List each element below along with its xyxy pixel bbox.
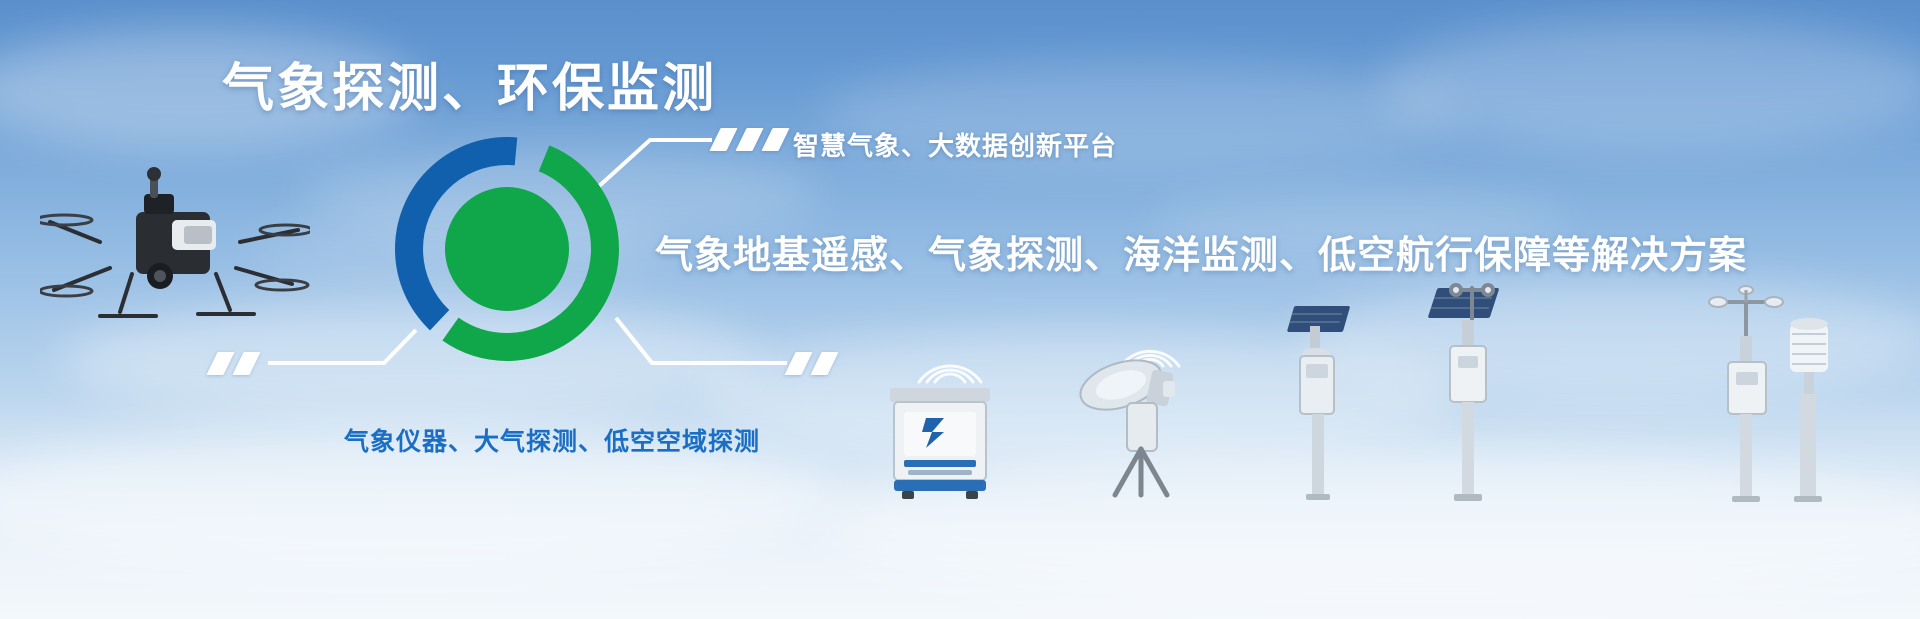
callout-bottom-text: 气象仪器、大气探测、低空空域探测 bbox=[344, 422, 760, 458]
slash-mark-left bbox=[212, 352, 255, 375]
drone-icon bbox=[40, 150, 310, 340]
donut-chart-graphic bbox=[390, 132, 624, 366]
solar-sensor-mast-icon bbox=[1410, 280, 1540, 502]
weather-station-icon bbox=[1700, 278, 1850, 502]
lidar-cabinet-icon bbox=[880, 378, 1000, 500]
banner-stage: 气象探测、环保监测 智慧气象、大数据创新平台 气象地基遥感、气象探测、海洋监测、… bbox=[0, 0, 1920, 619]
callout-main-text: 气象地基遥感、气象探测、海洋监测、低空航行保障等解决方案 bbox=[655, 224, 1747, 279]
slash-mark-right bbox=[790, 352, 833, 375]
satellite-dish-icon bbox=[1075, 355, 1205, 500]
solar-monitoring-post-icon bbox=[1280, 300, 1390, 500]
slash-mark-top bbox=[715, 128, 784, 151]
callout-top-text: 智慧气象、大数据创新平台 bbox=[793, 126, 1117, 163]
